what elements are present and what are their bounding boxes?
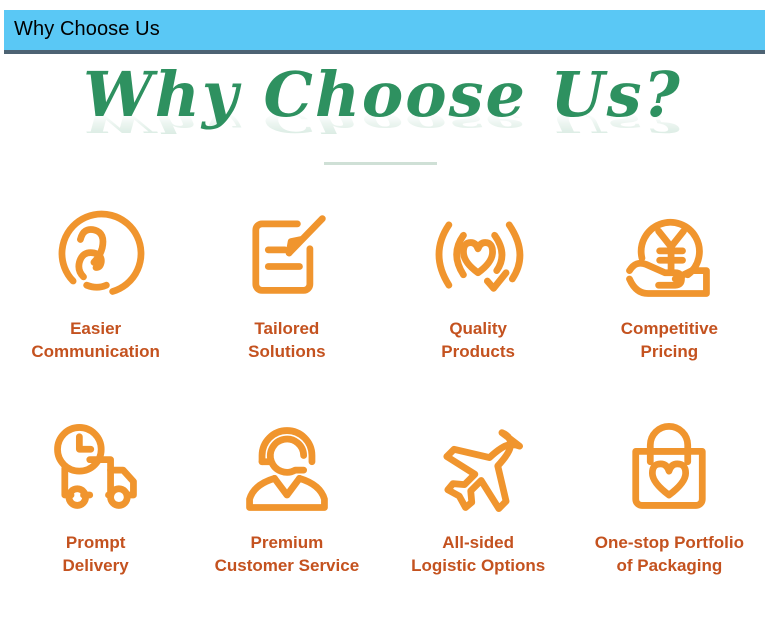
feature-label: Competitive Pricing <box>621 318 718 363</box>
window-title: Why Choose Us <box>14 18 160 41</box>
feature-label: All-sided Logistic Options <box>411 532 545 577</box>
hero-divider <box>324 162 437 165</box>
feature-card-premium-customer-service[interactable]: Premium Customer Service <box>191 410 382 624</box>
feature-card-prompt-delivery[interactable]: Prompt Delivery <box>0 410 191 624</box>
window-title-bar: Why Choose Us <box>4 10 765 54</box>
feature-card-tailored-solutions[interactable]: Tailored Solutions <box>191 196 382 410</box>
ear-in-circle-icon <box>40 202 152 306</box>
feature-card-all-sided-logistic-options[interactable]: All-sided Logistic Options <box>383 410 574 624</box>
page-title: Why Choose Us? <box>0 64 765 126</box>
feature-card-quality-products[interactable]: Quality Products <box>383 196 574 410</box>
feature-label: One-stop Portfolio of Packaging <box>595 532 744 577</box>
feature-label: Tailored Solutions <box>248 318 325 363</box>
document-pencil-icon <box>231 202 343 306</box>
features-grid: Easier Communication Tailored Solutions <box>0 196 765 624</box>
feature-label: Easier Communication <box>31 318 159 363</box>
hand-holding-yen-coin-icon <box>613 202 725 306</box>
feature-label: Prompt Delivery <box>63 532 129 577</box>
heart-signal-check-icon <box>422 202 534 306</box>
hero-section: Why Choose Us? Why Choose Us? <box>0 58 765 166</box>
feature-label: Premium Customer Service <box>215 532 360 577</box>
feature-label: Quality Products <box>441 318 515 363</box>
delivery-truck-clock-icon <box>40 416 152 520</box>
shopping-bag-heart-icon <box>613 416 725 520</box>
feature-card-easier-communication[interactable]: Easier Communication <box>0 196 191 410</box>
page-content: Why Choose Us? Why Choose Us? Easier Com… <box>0 58 765 599</box>
airplane-icon <box>422 416 534 520</box>
feature-card-competitive-pricing[interactable]: Competitive Pricing <box>574 196 765 410</box>
headset-agent-icon <box>231 416 343 520</box>
feature-card-one-stop-portfolio-of-packaging[interactable]: One-stop Portfolio of Packaging <box>574 410 765 624</box>
